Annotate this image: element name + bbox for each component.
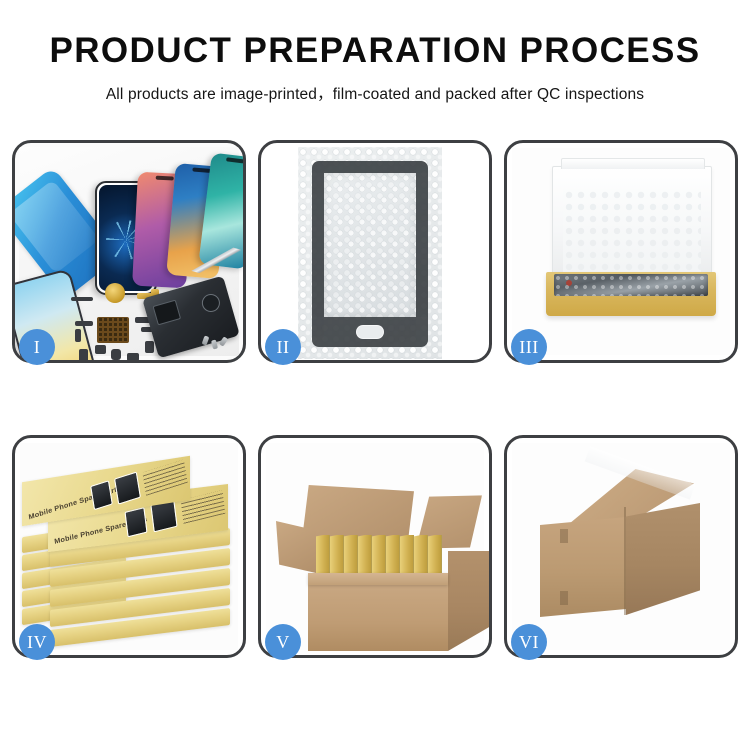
panel-4-image: Mobile Phone Spare Parts Mobile Phone Sp… xyxy=(15,438,243,655)
panel-5-image xyxy=(261,438,489,655)
bracket-part xyxy=(75,329,81,342)
foam-liner xyxy=(563,189,701,279)
bracket-part xyxy=(75,321,93,326)
box-phone-graphic xyxy=(114,471,141,504)
stacked-boxes-photo: Mobile Phone Spare Parts Mobile Phone Sp… xyxy=(20,443,238,650)
carton-right-face xyxy=(626,503,700,615)
screw-icon xyxy=(219,336,228,346)
panel-badge-2: II xyxy=(265,329,301,365)
process-panel-1[interactable]: I xyxy=(12,140,246,363)
page-header: PRODUCT PREPARATION PROCESS All products… xyxy=(0,0,750,104)
process-panel-2[interactable]: II xyxy=(258,140,492,363)
screw-icon xyxy=(211,340,218,350)
process-panel-5[interactable]: V xyxy=(258,435,492,658)
panel-badge-3: III xyxy=(511,329,547,365)
mesh-part xyxy=(97,317,129,343)
notch-icon xyxy=(192,167,210,173)
carton-edge xyxy=(624,507,626,615)
notch-icon xyxy=(156,176,174,181)
box-spec-lines xyxy=(142,460,187,496)
screws-group xyxy=(203,336,229,352)
carton-right-face xyxy=(448,551,489,651)
carton-front-face xyxy=(540,517,626,617)
wrapped-screen-in-box xyxy=(554,274,708,296)
carton-seam xyxy=(560,529,568,543)
process-panel-3[interactable]: III xyxy=(504,140,738,363)
page-title: PRODUCT PREPARATION PROCESS xyxy=(0,33,750,68)
panel-6-image xyxy=(507,438,735,655)
panel-badge-6: VI xyxy=(511,624,547,660)
open-kraft-box-photo xyxy=(512,148,730,355)
bubble-wrapped-screen-photo xyxy=(298,147,442,359)
chip-part xyxy=(127,353,139,360)
camera-part xyxy=(79,349,88,360)
screen-assembly xyxy=(312,161,428,347)
box-phone-graphic xyxy=(90,480,113,510)
chip-part xyxy=(95,345,106,354)
earpiece-part xyxy=(71,297,93,301)
page-subtitle: All products are image-printed，film-coat… xyxy=(0,82,750,104)
carton-front-rim xyxy=(308,573,448,585)
panel-badge-1: I xyxy=(19,329,55,365)
open-carton-photo xyxy=(266,443,484,650)
process-panel-4[interactable]: Mobile Phone Spare Parts Mobile Phone Sp… xyxy=(12,435,246,658)
box-phone-graphic xyxy=(124,507,147,537)
panel-badge-5: V xyxy=(265,624,301,660)
label-dot xyxy=(566,280,572,286)
sensor-part xyxy=(145,341,154,353)
process-panel-grid: I II xyxy=(12,140,738,658)
sealed-carton-photo xyxy=(512,443,730,650)
notch-icon xyxy=(226,157,243,163)
screw-icon xyxy=(202,335,210,345)
kraft-box-tray xyxy=(546,272,716,316)
panel-badge-4: IV xyxy=(19,624,55,660)
speaker-part xyxy=(105,283,125,303)
process-panel-6[interactable]: VI xyxy=(504,435,738,658)
panel-2-image xyxy=(261,143,489,360)
carton-seam xyxy=(560,591,568,605)
carton-front-face xyxy=(308,581,448,651)
phone-parts-photo xyxy=(19,147,239,356)
panel-1-image xyxy=(15,143,243,360)
vibrator-part xyxy=(111,349,121,360)
box-lid xyxy=(552,166,712,284)
panel-3-image xyxy=(507,143,735,360)
